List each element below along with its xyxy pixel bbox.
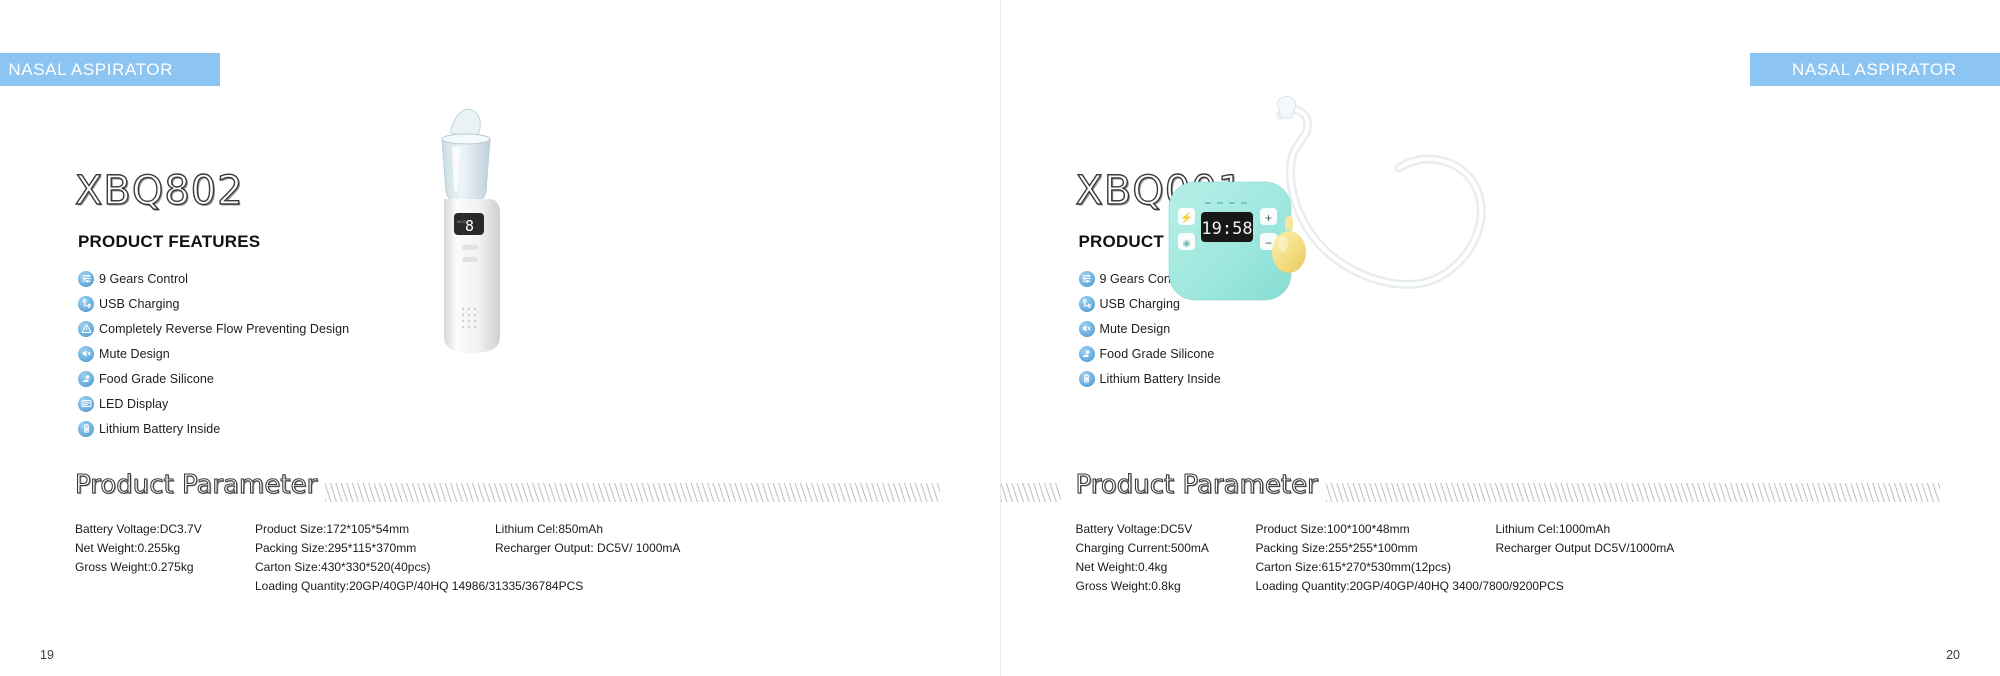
parameter-column-2: Product Size:100*100*48mm Packing Size:2…	[1256, 520, 1496, 596]
page-banner-right: NASAL ASPIRATOR	[1750, 53, 2000, 86]
parameter-line: Battery Voltage:DC5V	[1076, 520, 1256, 539]
product-image-xbq001: 19:58 ⚡ ◉ + −	[1161, 90, 1591, 365]
hatch-divider-left	[1001, 483, 1061, 502]
banner-label: NASAL ASPIRATOR	[1792, 60, 1957, 80]
feature-label: Lithium Battery Inside	[99, 422, 220, 436]
list-item: Mute Design	[78, 341, 349, 366]
parameter-column-3: Lithium Cel:1000mAh Recharger Output DC5…	[1496, 520, 1736, 596]
pump-display-value: 19:58	[1201, 219, 1252, 239]
parameter-line: Packing Size:295*115*370mm	[255, 539, 495, 558]
feature-label: Completely Reverse Flow Preventing Desig…	[99, 322, 349, 336]
feature-label: Mute Design	[99, 347, 170, 361]
feature-label: USB Charging	[99, 297, 180, 311]
battery-icon	[78, 421, 94, 437]
parameter-heading: Product Parameter	[1076, 470, 1318, 500]
silicone-drop-icon	[1079, 346, 1095, 362]
parameter-line: Gross Weight:0.275kg	[75, 558, 255, 577]
led-display-icon	[78, 396, 94, 412]
list-item: Food Grade Silicone	[78, 366, 349, 391]
svg-text:+: +	[1264, 211, 1271, 225]
page-number: 20	[1946, 648, 1960, 662]
page-banner-left: NASAL ASPIRATOR	[0, 53, 220, 86]
parameter-line: Carton Size:615*270*530mm(12pcs)	[1256, 558, 1496, 577]
parameter-line: Product Size:172*105*54mm	[255, 520, 495, 539]
feature-label: 9 Gears Control	[99, 272, 188, 286]
hatch-divider	[325, 483, 940, 502]
parameter-line: Lithium Cel:1000mAh	[1496, 520, 1736, 539]
parameter-line: Charging Current:500mA	[1076, 539, 1256, 558]
parameter-line: Carton Size:430*330*520(40pcs)	[255, 558, 495, 577]
page-title: XBQ802	[75, 168, 244, 214]
parameter-column-3: Lithium Cel:850mAh Recharger Output: DC5…	[495, 520, 735, 596]
battery-icon	[1079, 371, 1095, 387]
parameter-line: Battery Voltage:DC3.7V	[75, 520, 255, 539]
mute-speaker-icon	[78, 346, 94, 362]
silicone-drop-icon	[78, 371, 94, 387]
parameter-line: Loading Quantity:20GP/40GP/40HQ 14986/31…	[255, 577, 495, 596]
parameter-column-1: Battery Voltage:DC3.7V Net Weight:0.255k…	[75, 520, 255, 596]
parameter-line: Recharger Output: DC5V/ 1000mA	[495, 539, 735, 558]
list-item: USB Charging	[78, 291, 349, 316]
parameter-table: Battery Voltage:DC5V Charging Current:50…	[1076, 520, 1961, 596]
usb-plug-icon	[78, 296, 94, 312]
sliders-icon	[1079, 271, 1095, 287]
list-item: Completely Reverse Flow Preventing Desig…	[78, 316, 349, 341]
feature-label: LED Display	[99, 397, 168, 411]
page-number: 19	[40, 648, 54, 662]
catalog-page-left: NASAL ASPIRATOR XBQ802 PRODUCT FEATURES …	[0, 0, 1000, 676]
parameter-line: Packing Size:255*255*100mm	[1256, 539, 1496, 558]
list-item: Lithium Battery Inside	[78, 416, 349, 441]
parameter-column-1: Battery Voltage:DC5V Charging Current:50…	[1076, 520, 1256, 596]
parameter-line: Product Size:100*100*48mm	[1256, 520, 1496, 539]
warning-triangle-icon	[78, 321, 94, 337]
list-item: LED Display	[78, 391, 349, 416]
list-item: Lithium Battery Inside	[1079, 366, 1221, 391]
features-list: 9 Gears Control USB Charging Completely …	[78, 266, 349, 441]
svg-text:⚡: ⚡	[1180, 211, 1192, 224]
parameter-line: Loading Quantity:20GP/40GP/40HQ 3400/780…	[1256, 577, 1496, 596]
banner-label: NASAL ASPIRATOR	[8, 60, 173, 80]
sliders-icon	[78, 271, 94, 287]
parameter-line: Lithium Cel:850mAh	[495, 520, 735, 539]
catalog-page-right: NASAL ASPIRATOR XBQ001 PRODUCT FEATURES …	[1000, 0, 2000, 676]
mute-speaker-icon	[1079, 321, 1095, 337]
parameter-line: Gross Weight:0.8kg	[1076, 577, 1256, 596]
parameter-line: Recharger Output DC5V/1000mA	[1496, 539, 1736, 558]
list-item: 9 Gears Control	[78, 266, 349, 291]
parameter-column-2: Product Size:172*105*54mm Packing Size:2…	[255, 520, 495, 596]
parameter-heading: Product Parameter	[75, 470, 317, 500]
catalog-spread: NASAL ASPIRATOR XBQ802 PRODUCT FEATURES …	[0, 0, 2000, 676]
parameter-line: Net Weight:0.255kg	[75, 539, 255, 558]
svg-text:MODE: MODE	[457, 219, 469, 224]
svg-text:−: −	[1264, 236, 1271, 250]
feature-label: Food Grade Silicone	[99, 372, 214, 386]
feature-label: Lithium Battery Inside	[1100, 372, 1221, 386]
parameter-line: Net Weight:0.4kg	[1076, 558, 1256, 577]
product-image-xbq802: 8 MODE	[430, 95, 630, 365]
svg-text:◉: ◉	[1182, 238, 1190, 248]
usb-plug-icon	[1079, 296, 1095, 312]
parameter-table: Battery Voltage:DC3.7V Net Weight:0.255k…	[75, 520, 960, 596]
hatch-divider	[1326, 483, 1941, 502]
features-heading: PRODUCT FEATURES	[78, 232, 260, 252]
